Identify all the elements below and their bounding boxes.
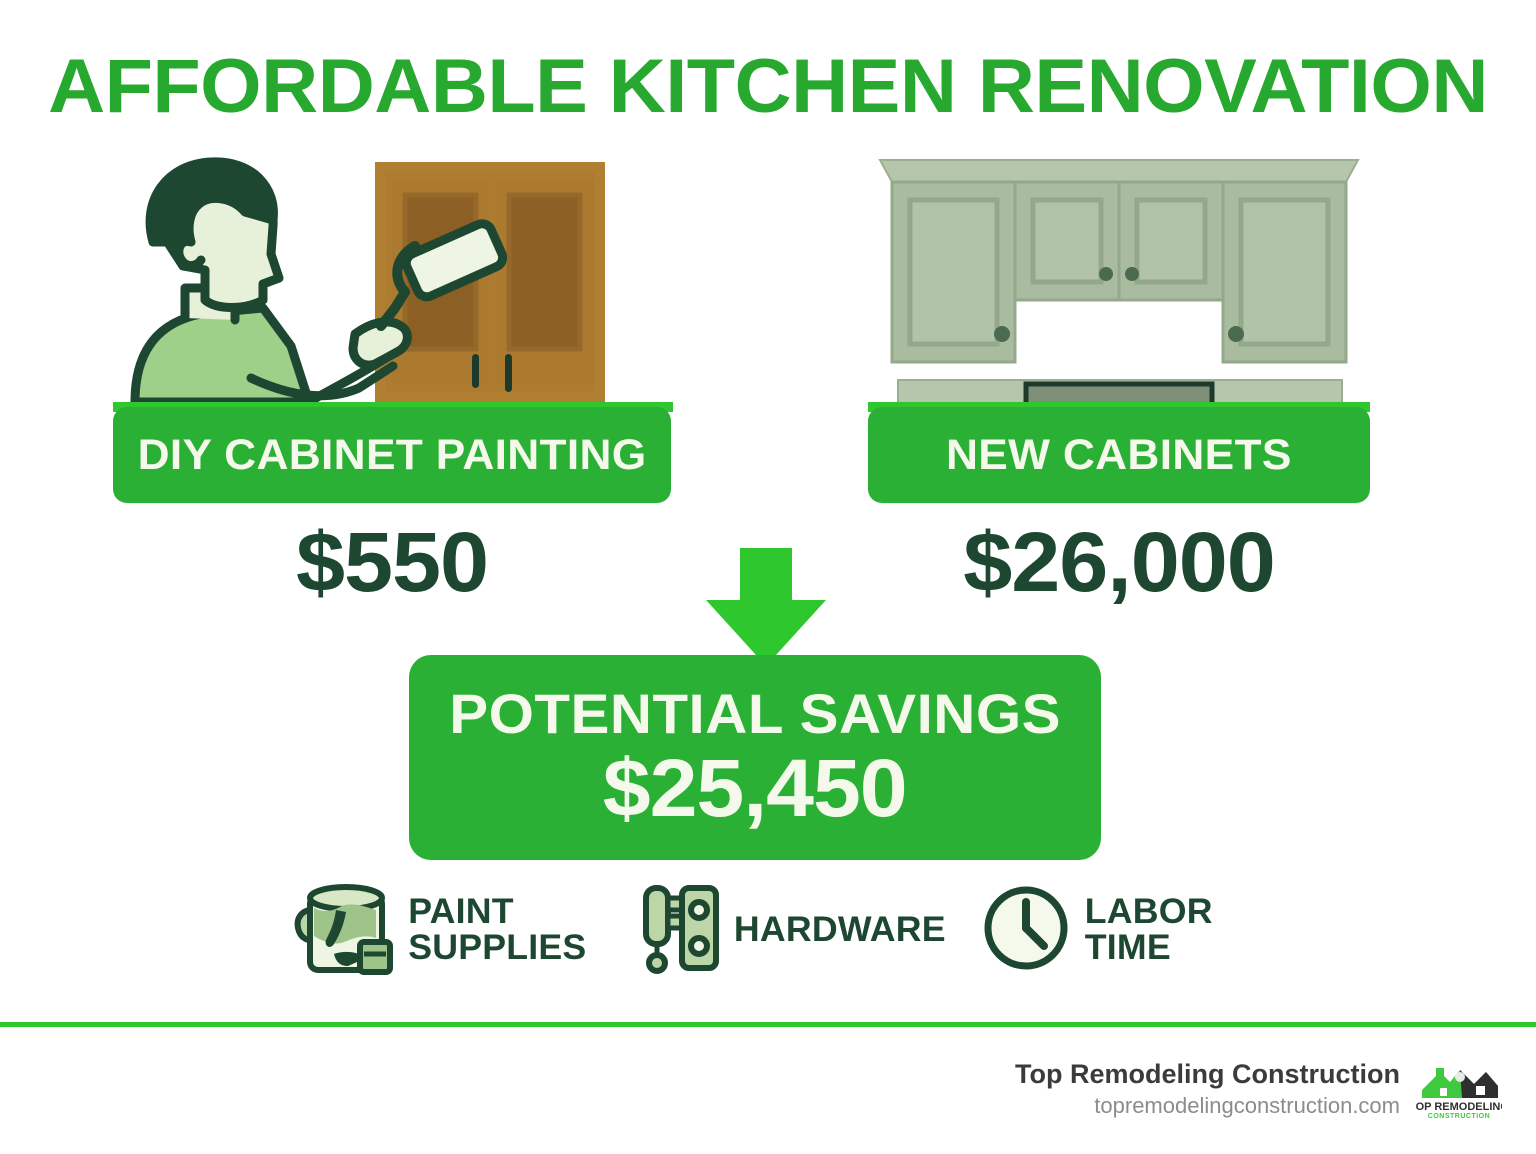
infographic-canvas: AFFORDABLE KITCHEN RENOVATION [0, 0, 1536, 1154]
page-title: AFFORDABLE KITCHEN RENOVATION [0, 46, 1536, 128]
savings-amount: $25,450 [603, 746, 907, 832]
savings-label: POTENTIAL SAVINGS [449, 684, 1061, 744]
clock-icon [980, 882, 1072, 979]
paint-can-icon [290, 880, 396, 981]
logo-bottom-text: CONSTRUCTION [1428, 1113, 1490, 1120]
brand-url[interactable]: topremodelingconstruction.com [1015, 1091, 1400, 1121]
badge-left-label: DIY CABINET PAINTING [137, 434, 646, 477]
person-painting-cabinet-illustration [113, 150, 673, 412]
feature-list: PAINT SUPPLIES HARDWARE [290, 876, 1250, 984]
left-comparison-column [113, 150, 673, 412]
badge-new-cabinets: NEW CABINETS [868, 407, 1370, 503]
house-roof-logo-icon: TOP REMODELING CONSTRUCTION [1416, 1056, 1502, 1122]
right-comparison-column [868, 150, 1370, 412]
price-new-cabinets: $26,000 [855, 518, 1382, 606]
down-arrow-icon [706, 548, 826, 666]
feature-paint-supplies-label: PAINT SUPPLIES [408, 894, 586, 966]
feature-labor-time-label: LABOR TIME [1085, 894, 1213, 966]
feature-labor-time: LABOR TIME [980, 876, 1211, 984]
footer-text-block: Top Remodeling Construction topremodelin… [1015, 1057, 1400, 1121]
brand-name: Top Remodeling Construction [1015, 1057, 1400, 1091]
cabinet-hinge-icon [638, 880, 722, 981]
badge-right-label: NEW CABINETS [946, 434, 1292, 477]
potential-savings-panel: POTENTIAL SAVINGS $25,450 [409, 655, 1101, 860]
feature-hardware-label: HARDWARE [734, 912, 946, 948]
logo-top-text: TOP REMODELING [1416, 1101, 1502, 1113]
footer: Top Remodeling Construction topremodelin… [1015, 1056, 1502, 1122]
feature-hardware: HARDWARE [638, 876, 944, 984]
new-kitchen-cabinets-illustration [868, 150, 1370, 412]
footer-divider [0, 1022, 1536, 1027]
price-diy-cabinet-painting: $550 [99, 518, 685, 606]
badge-diy-cabinet-painting: DIY CABINET PAINTING [113, 407, 671, 503]
feature-paint-supplies: PAINT SUPPLIES [290, 876, 585, 984]
